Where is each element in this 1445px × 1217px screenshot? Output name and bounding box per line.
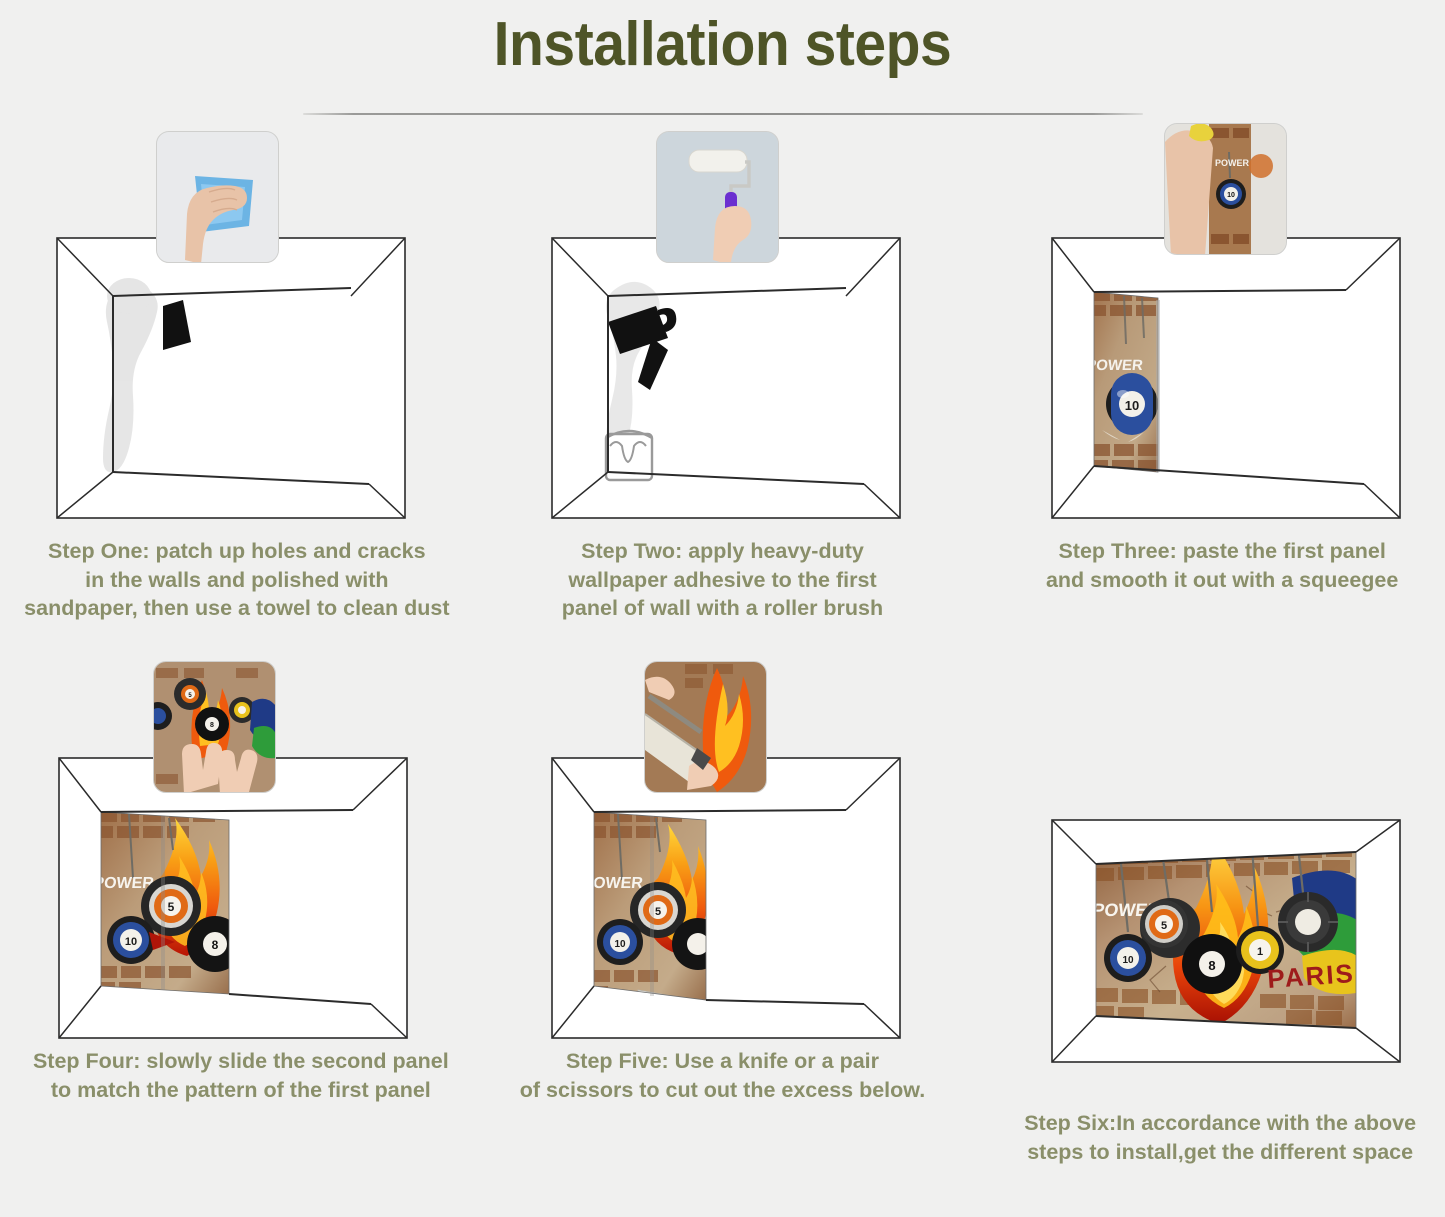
step-five-thumbnail[interactable] [644, 661, 767, 793]
step-card-one: Step One: patch up holes and cracks in t… [0, 131, 482, 651]
step-six-caption: Step Six:In accordance with the above st… [1000, 1109, 1440, 1166]
room-diagram-six: POWER 5 10 [1046, 816, 1406, 1066]
svg-text:5: 5 [167, 900, 174, 914]
svg-text:10: 10 [125, 936, 137, 948]
step-five-illustration: POWER 5 10 [546, 651, 906, 1051]
room-diagram-five: POWER 5 10 [546, 754, 906, 1044]
svg-text:1: 1 [1257, 946, 1263, 958]
step-card-six: POWER 5 10 [963, 651, 1445, 1171]
step-card-two: Step Two: apply heavy-duty wallpaper adh… [482, 131, 964, 651]
page-title: Installation steps [58, 12, 1387, 77]
svg-text:8: 8 [210, 722, 214, 729]
step-card-three: POWER 10 [963, 131, 1445, 651]
svg-text:POWER: POWER [1215, 158, 1250, 168]
svg-text:8: 8 [211, 938, 218, 952]
step-two-thumbnail[interactable] [656, 131, 779, 263]
step-six-illustration: POWER 5 10 [1046, 713, 1406, 1113]
svg-text:POWER: POWER [92, 874, 155, 892]
title-divider [303, 113, 1143, 115]
room-diagram-three: POWER 10 [1046, 234, 1406, 524]
svg-text:PARIS: PARIS [1266, 958, 1355, 994]
page-header: Installation steps [0, 0, 1445, 115]
room-diagram-four: POWER 5 10 [53, 754, 413, 1044]
step-four-caption: Step Four: slowly slide the second panel… [21, 1047, 461, 1104]
step-one-thumbnail[interactable] [156, 131, 279, 263]
steps-grid: Step One: patch up holes and cracks in t… [0, 131, 1445, 1171]
room-diagram-one [51, 234, 411, 524]
step-two-caption: Step Two: apply heavy-duty wallpaper adh… [502, 537, 942, 623]
svg-text:10: 10 [615, 939, 627, 950]
step-four-illustration: POWER 5 10 [53, 651, 413, 1051]
step-one-illustration [51, 131, 411, 531]
step-three-thumbnail[interactable]: POWER 10 [1164, 123, 1287, 255]
step-four-thumbnail[interactable]: 5 8 [153, 661, 276, 793]
svg-text:5: 5 [655, 906, 661, 918]
step-one-caption: Step One: patch up holes and cracks in t… [17, 537, 457, 623]
step-three-caption: Step Three: paste the first panel and sm… [1002, 537, 1442, 594]
step-card-five: POWER 5 10 [482, 651, 964, 1171]
step-two-illustration [546, 131, 906, 531]
room-diagram-two [546, 234, 906, 524]
svg-text:10: 10 [1123, 955, 1135, 966]
svg-text:8: 8 [1209, 958, 1216, 973]
svg-text:10: 10 [1125, 398, 1139, 413]
step-five-caption: Step Five: Use a knife or a pair of scis… [502, 1047, 942, 1104]
svg-text:10: 10 [1227, 192, 1235, 199]
svg-text:5: 5 [1161, 920, 1167, 932]
step-card-four: POWER 5 10 [0, 651, 482, 1171]
step-three-illustration: POWER 10 [1046, 131, 1406, 531]
